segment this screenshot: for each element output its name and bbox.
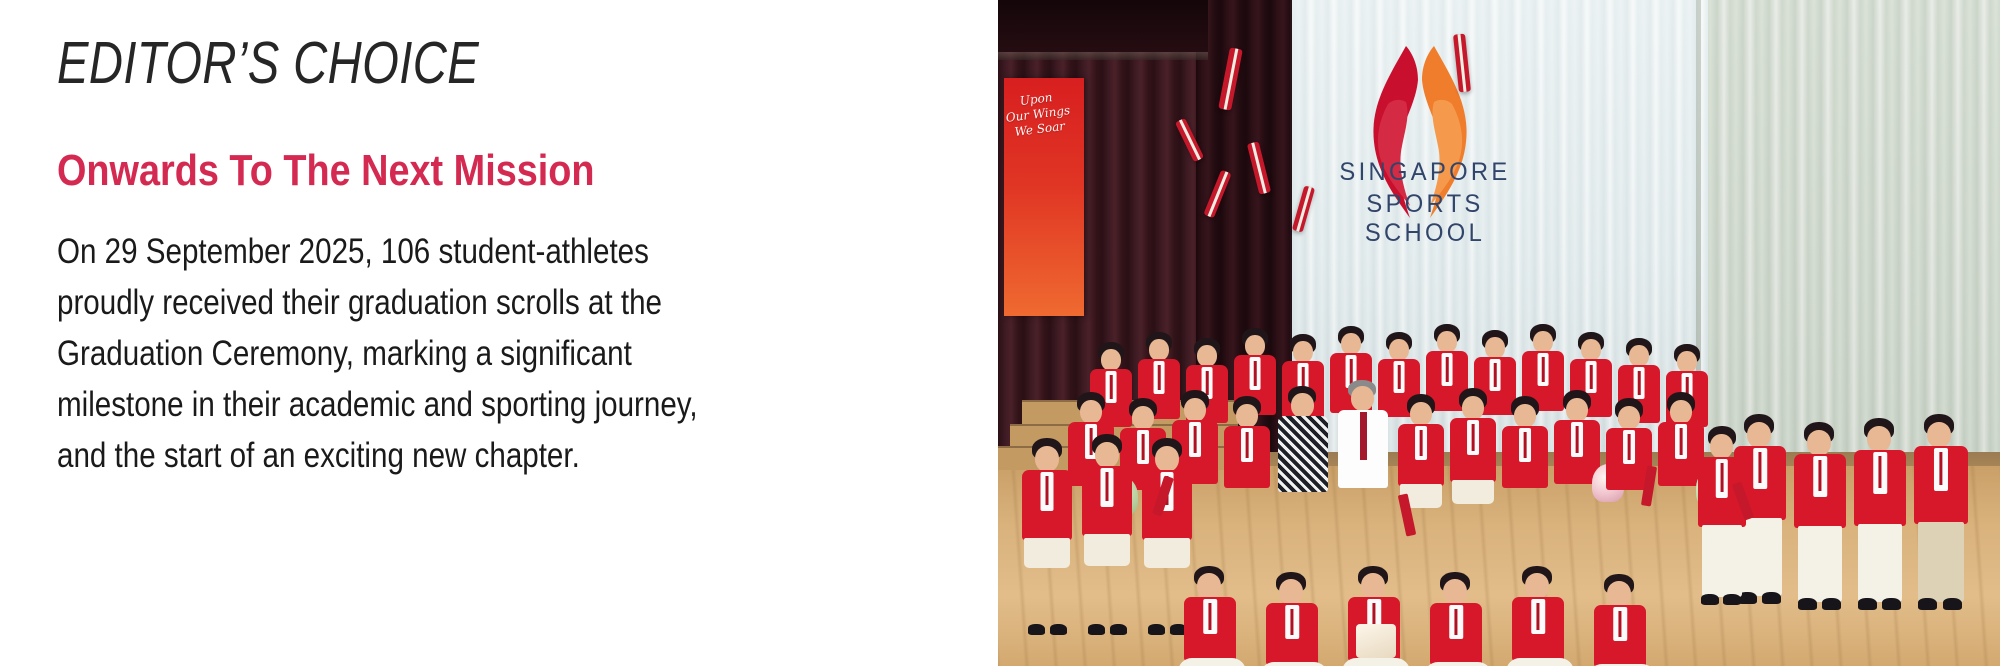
body-line-2: proudly received their graduation scroll… [57, 277, 953, 328]
section-kicker: EDITOR’S CHOICE [57, 33, 479, 93]
body-line-1: On 29 September 2025, 106 student-athlet… [57, 226, 953, 277]
body-line-5: and the start of an exciting new chapter… [57, 430, 953, 481]
gift-bouquet [1356, 624, 1396, 658]
article-headline: Onwards To The Next Mission [57, 148, 595, 194]
ceiling-shadow [998, 0, 1208, 52]
graduation-group-photo: Upon Our Wings We Soar SINGAPORE SPORTS … [998, 0, 2000, 666]
editors-choice-feature: EDITOR’S CHOICE Onwards To The Next Miss… [0, 0, 2000, 666]
body-line-4: milestone in their academic and sporting… [57, 379, 953, 430]
article-body: On 29 September 2025, 106 student-athlet… [57, 226, 953, 481]
body-line-3: Graduation Ceremony, marking a significa… [57, 328, 953, 379]
curtain-rail [998, 52, 1208, 60]
article-text-panel: EDITOR’S CHOICE Onwards To The Next Miss… [0, 0, 998, 666]
student-athlete-crowd [998, 146, 2000, 666]
